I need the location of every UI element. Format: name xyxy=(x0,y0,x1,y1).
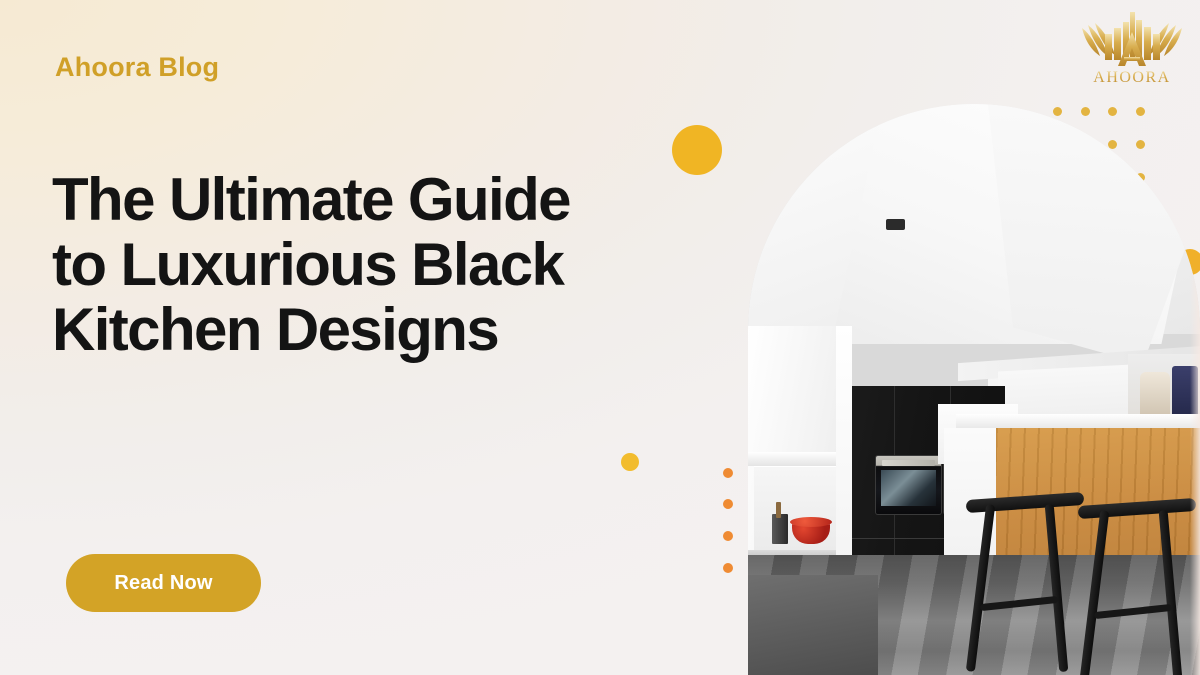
utensil-handle xyxy=(776,502,781,518)
photo-edge-glow xyxy=(1190,104,1200,675)
kitchen-scene xyxy=(748,104,1200,675)
decor-dot-orange xyxy=(723,563,733,573)
headline-line-1: The Ultimate Guide xyxy=(52,168,732,233)
read-now-button[interactable]: Read Now xyxy=(66,554,261,612)
page-title: The Ultimate Guide to Luxurious Black Ki… xyxy=(52,168,732,362)
background-chair xyxy=(1140,372,1170,418)
tile-floor-left xyxy=(748,575,878,675)
shelf xyxy=(748,452,844,466)
bar-stool xyxy=(966,496,1086,675)
decor-dot-orange xyxy=(723,531,733,541)
brand-name: Ahoora Blog xyxy=(55,52,219,83)
ahoora-building-wings-logo: AHOORA xyxy=(1072,4,1192,90)
logo-wordmark: AHOORA xyxy=(1093,69,1170,86)
island-countertop xyxy=(956,414,1200,428)
decor-circle-medium xyxy=(621,453,639,471)
decor-dot-orange xyxy=(723,499,733,509)
utensil-holder xyxy=(772,514,788,544)
ceiling-spotlight-icon xyxy=(886,219,905,230)
built-in-oven xyxy=(876,456,941,514)
decor-dot-orange xyxy=(723,468,733,478)
headline-line-3: Kitchen Designs xyxy=(52,298,732,363)
blog-banner: Ahoora Blog xyxy=(0,0,1200,675)
hero-kitchen-photo xyxy=(748,104,1200,675)
headline-line-2: to Luxurious Black xyxy=(52,233,732,298)
bar-stool xyxy=(1078,502,1198,675)
